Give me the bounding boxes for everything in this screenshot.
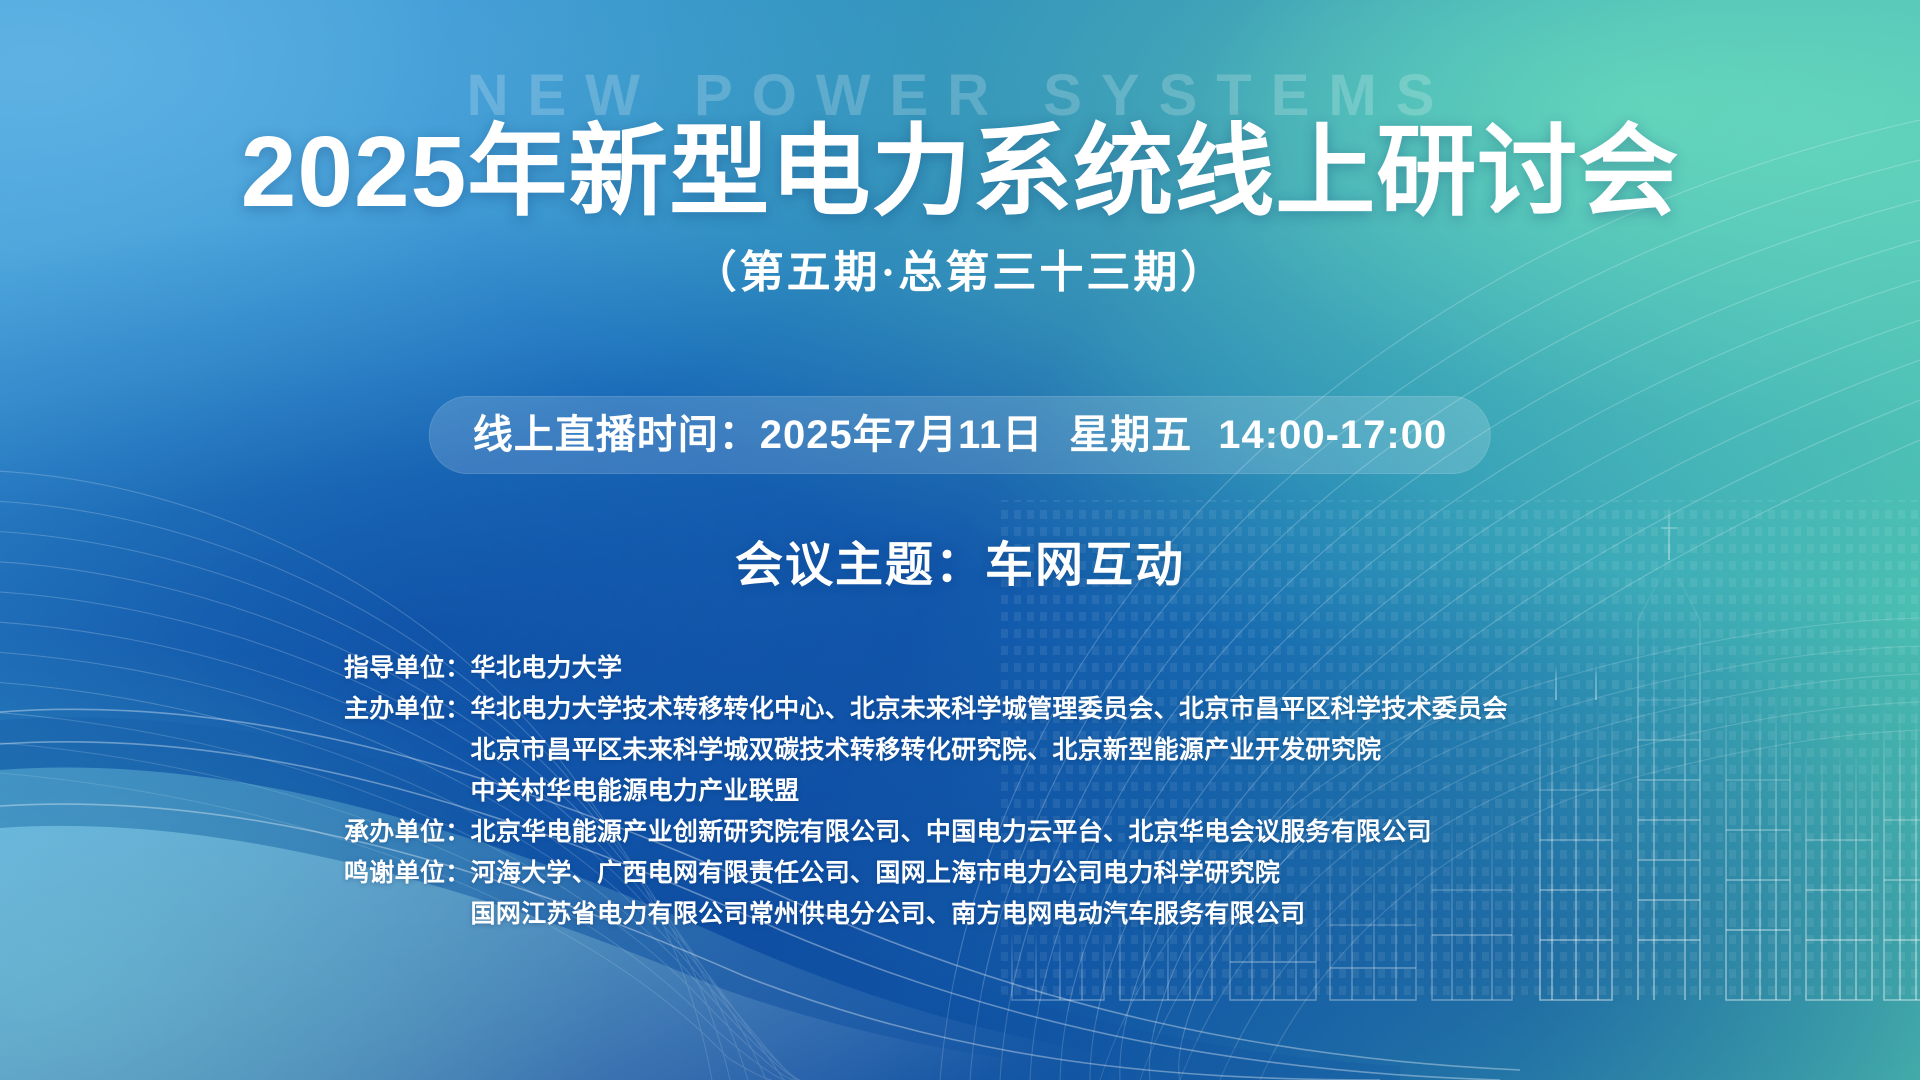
credit-line: 河海大学、广西电网有限责任公司、国网上海市电力公司电力科学研究院 — [471, 853, 1664, 894]
credit-label: 主办单位： — [344, 689, 471, 730]
credit-row: 指导单位：华北电力大学 — [344, 648, 1664, 689]
credit-values: 华北电力大学 — [471, 648, 1664, 689]
page-title: 2025年新型电力系统线上研讨会 — [0, 120, 1920, 225]
credit-label: 鸣谢单位： — [344, 853, 471, 894]
poster-canvas: NEW POWER SYSTEMS 2025年新型电力系统线上研讨会 （第五期·… — [0, 0, 1920, 1080]
credit-row: 鸣谢单位：河海大学、广西电网有限责任公司、国网上海市电力公司电力科学研究院国网江… — [344, 853, 1664, 935]
credit-line: 国网江苏省电力有限公司常州供电分公司、南方电网电动汽车服务有限公司 — [471, 894, 1664, 935]
credit-line: 华北电力大学 — [471, 648, 1664, 689]
live-time-range: 14:00-17:00 — [1218, 413, 1447, 457]
credit-row: 主办单位：华北电力大学技术转移转化中心、北京未来科学城管理委员会、北京市昌平区科… — [344, 689, 1664, 812]
credit-values: 河海大学、广西电网有限责任公司、国网上海市电力公司电力科学研究院国网江苏省电力有… — [471, 853, 1664, 935]
credit-row: 承办单位：北京华电能源产业创新研究院有限公司、中国电力云平台、北京华电会议服务有… — [344, 812, 1664, 853]
live-time-label: 线上直播时间： — [473, 413, 760, 457]
credit-label: 指导单位： — [344, 648, 471, 689]
credit-line: 华北电力大学技术转移转化中心、北京未来科学城管理委员会、北京市昌平区科学技术委员… — [471, 689, 1664, 730]
live-time-banner: 线上直播时间：2025年7月11日星期五14:00-17:00 — [429, 396, 1491, 474]
poster-content: NEW POWER SYSTEMS 2025年新型电力系统线上研讨会 （第五期·… — [0, 0, 1920, 1080]
credit-values: 华北电力大学技术转移转化中心、北京未来科学城管理委员会、北京市昌平区科学技术委员… — [471, 689, 1664, 812]
credit-line: 北京华电能源产业创新研究院有限公司、中国电力云平台、北京华电会议服务有限公司 — [471, 812, 1664, 853]
credit-label: 承办单位： — [344, 812, 471, 853]
page-subtitle: （第五期·总第三十三期） — [0, 236, 1920, 300]
live-time-weekday: 星期五 — [1069, 413, 1192, 457]
credit-values: 北京华电能源产业创新研究院有限公司、中国电力云平台、北京华电会议服务有限公司 — [471, 812, 1664, 853]
credit-line: 中关村华电能源电力产业联盟 — [471, 771, 1664, 812]
credits-block: 指导单位：华北电力大学主办单位：华北电力大学技术转移转化中心、北京未来科学城管理… — [344, 648, 1664, 935]
conference-theme: 会议主题：车网互动 — [0, 525, 1920, 595]
live-time-date: 2025年7月11日 — [760, 413, 1044, 457]
credit-line: 北京市昌平区未来科学城双碳技术转移转化研究院、北京新型能源产业开发研究院 — [471, 730, 1664, 771]
